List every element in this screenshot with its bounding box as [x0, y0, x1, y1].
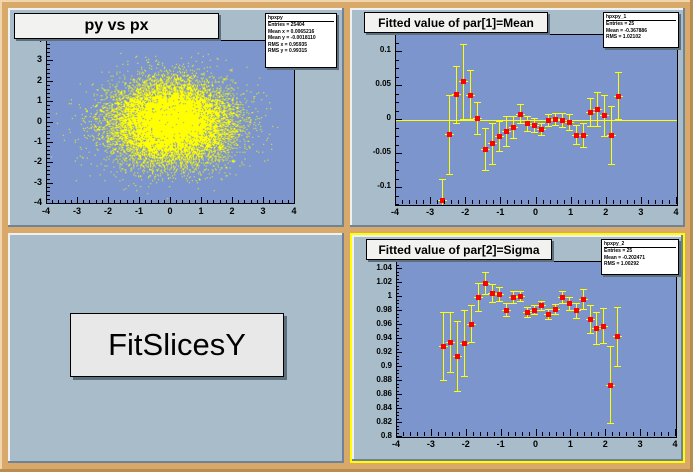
- axis-label: -1: [20, 136, 42, 146]
- error-bar-cap: [503, 303, 510, 304]
- error-bar-cap: [510, 291, 517, 292]
- axis-tick: [515, 432, 516, 436]
- axis-tick: [501, 432, 502, 436]
- error-bar-cap: [545, 114, 552, 115]
- error-bar-cap: [517, 104, 524, 105]
- axis-label: -1: [491, 207, 509, 217]
- axis-label: 4: [285, 206, 303, 216]
- axis-tick: [182, 200, 183, 204]
- pad-edge: [350, 8, 685, 10]
- error-bar-cap: [503, 146, 510, 147]
- axis-label: -4: [37, 206, 55, 216]
- axis-tick: [557, 200, 558, 204]
- axis-tick: [46, 77, 50, 78]
- pad-edge: [342, 233, 344, 463]
- axis-tick: [108, 200, 109, 204]
- pad-edge: [681, 235, 683, 461]
- data-point-marker: [454, 92, 459, 97]
- axis-tick: [396, 398, 399, 399]
- axis-tick: [668, 432, 669, 436]
- axis-label: 1: [366, 291, 392, 300]
- error-bar-cap: [587, 126, 594, 127]
- error-bar-cap: [531, 118, 538, 119]
- error-bar-cap: [453, 123, 460, 124]
- error-bar-cap: [468, 305, 475, 306]
- axis-label: 4: [666, 439, 684, 449]
- error-bar-cap: [439, 179, 446, 180]
- error-bar-cap: [517, 291, 524, 292]
- axis-label: 0.05: [363, 79, 391, 88]
- error-bar-cap: [559, 127, 566, 128]
- error-bar-cap: [460, 119, 467, 120]
- error-bar-cap: [447, 372, 454, 373]
- axis-tick: [46, 146, 50, 147]
- data-point-marker: [539, 127, 544, 132]
- axis-tick: [669, 200, 670, 204]
- data-point-marker: [588, 317, 593, 322]
- axis-tick: [396, 373, 399, 374]
- error-bar-cap: [524, 116, 531, 117]
- axis-tick: [151, 200, 152, 204]
- axis-tick: [46, 195, 50, 196]
- axis-tick: [536, 432, 537, 436]
- axis-tick: [528, 200, 529, 204]
- error-bar-cap: [524, 317, 531, 318]
- axis-tick: [396, 363, 399, 364]
- axis-tick: [396, 265, 399, 266]
- error-bar-cap: [593, 344, 600, 345]
- error-bar-cap: [614, 366, 621, 367]
- axis-tick: [282, 200, 283, 204]
- axis-tick: [395, 204, 399, 205]
- axis-tick: [395, 85, 399, 86]
- axis-tick: [396, 345, 399, 346]
- axis-tick: [641, 200, 642, 204]
- error-bar-cap: [566, 297, 573, 298]
- axis-tick: [675, 429, 676, 436]
- stats-line: hpxpy: [268, 15, 334, 22]
- axis-tick: [396, 377, 399, 378]
- error-bar-cap: [566, 114, 573, 115]
- error-bar-cap: [453, 66, 460, 67]
- error-bar-cap: [467, 70, 474, 71]
- pad-edge: [350, 8, 352, 227]
- error-bar-cap: [468, 342, 475, 343]
- error-bar-cap: [594, 92, 601, 93]
- error-bar-cap: [559, 113, 566, 114]
- axis-tick: [445, 432, 446, 436]
- axis-label: 2: [597, 207, 615, 217]
- stats-line: RMS = 1.02102: [606, 34, 676, 40]
- data-point-marker: [609, 133, 614, 138]
- axis-tick: [251, 200, 252, 204]
- axis-tick: [536, 200, 537, 204]
- axis-tick: [410, 432, 411, 436]
- axis-tick: [619, 432, 620, 436]
- axis-label: 2: [596, 439, 614, 449]
- error-bar-cap: [496, 151, 503, 152]
- axis-tick: [395, 179, 399, 180]
- axis-tick: [288, 200, 289, 204]
- axis-tick: [46, 199, 50, 200]
- data-point-marker: [601, 324, 606, 329]
- axis-tick: [521, 200, 522, 204]
- error-bar-cap: [460, 44, 467, 45]
- canvas-bevel-top: [0, 0, 693, 2]
- axis-label: -4: [386, 207, 404, 217]
- axis-tick: [96, 200, 97, 204]
- axis-tick: [396, 324, 399, 325]
- data-point-marker: [588, 110, 593, 115]
- axis-tick: [46, 56, 50, 57]
- axis-tick: [640, 432, 641, 436]
- axis-tick: [396, 314, 399, 315]
- stats-line: RMS y = 0.99315: [268, 48, 334, 54]
- axis-tick: [395, 60, 399, 61]
- axis-tick: [46, 40, 53, 41]
- axis-tick: [396, 307, 399, 308]
- axis-label: 0.86: [366, 389, 392, 398]
- axis-tick: [395, 136, 399, 137]
- error-bar-cap: [594, 126, 601, 127]
- axis-tick: [396, 422, 399, 423]
- error-bar-cap: [510, 138, 517, 139]
- axis-tick: [473, 432, 474, 436]
- axis-tick: [494, 432, 495, 436]
- axis-tick: [396, 282, 399, 283]
- error-bar-cap: [454, 321, 461, 322]
- error-bar-cap: [615, 119, 622, 120]
- axis-label: 1: [192, 206, 210, 216]
- pad-edge: [8, 8, 10, 227]
- data-point-marker: [497, 134, 502, 139]
- axis-tick: [213, 200, 214, 204]
- pad-label[interactable]: FitSlicesY: [8, 233, 344, 463]
- data-point-marker: [532, 123, 537, 128]
- error-bar-cap: [580, 123, 587, 124]
- data-point-marker: [461, 79, 466, 84]
- stats-line: RMS = 1.00292: [604, 261, 676, 267]
- error-bar-cap: [496, 287, 503, 288]
- axis-label: -3: [422, 439, 440, 449]
- axis-tick: [207, 200, 208, 204]
- axis-label: 0.88: [366, 375, 392, 384]
- axis-tick: [655, 200, 656, 204]
- axis-tick: [648, 200, 649, 204]
- axis-tick: [396, 401, 399, 402]
- axis-label: 2: [20, 75, 42, 85]
- stats-line: hpxpy_1: [606, 14, 676, 21]
- axis-label: 1: [20, 95, 42, 105]
- axis-tick: [46, 44, 50, 45]
- data-point-marker: [616, 94, 621, 99]
- error-bar-cap: [552, 304, 559, 305]
- axis-tick: [626, 432, 627, 436]
- error-bar-cap: [593, 312, 600, 313]
- error-bar-cap: [545, 319, 552, 320]
- axis-tick: [46, 93, 50, 94]
- error-bar-cap: [474, 134, 481, 135]
- axis-tick: [396, 303, 399, 304]
- axis-tick: [395, 51, 399, 52]
- axis-label: 3: [20, 54, 42, 64]
- axis-tick: [585, 200, 586, 204]
- data-point-marker: [615, 334, 620, 339]
- axis-tick: [424, 432, 425, 436]
- axis-tick: [417, 432, 418, 436]
- data-point-marker: [539, 303, 544, 308]
- axis-tick: [396, 272, 399, 273]
- error-bar-cap: [580, 309, 587, 310]
- axis-tick: [102, 200, 103, 204]
- error-bar-cap: [608, 164, 615, 165]
- error-bar-cap: [614, 307, 621, 308]
- pad-edge: [350, 225, 685, 227]
- error-bar-cap: [489, 284, 496, 285]
- error-bar-cap: [601, 95, 608, 96]
- axis-tick: [396, 275, 399, 276]
- axis-tick: [395, 111, 399, 112]
- fitslicesy-label-text: FitSlicesY: [108, 327, 246, 363]
- stats-box-mean[interactable]: hpxpy_1Entries = 25Mean = -0.367886RMS =…: [603, 12, 679, 48]
- axis-tick: [591, 432, 592, 436]
- axis-tick: [599, 200, 600, 204]
- plot-frame-scatter: [46, 40, 295, 204]
- axis-tick: [598, 432, 599, 436]
- error-bar-cap: [447, 312, 454, 313]
- axis-tick: [396, 408, 399, 409]
- axis-tick: [654, 432, 655, 436]
- axis-tick: [220, 200, 221, 204]
- data-point-marker: [553, 307, 558, 312]
- error-bar-cap: [552, 113, 559, 114]
- error-bar-cap: [517, 301, 524, 302]
- axis-tick: [269, 200, 270, 204]
- error-bar-cap: [524, 307, 531, 308]
- axis-tick: [395, 77, 399, 78]
- error-bar-cap: [600, 308, 607, 309]
- pad-edge: [8, 225, 344, 227]
- axis-tick: [396, 433, 399, 434]
- axis-label: 3: [631, 439, 649, 449]
- axis-tick: [164, 200, 165, 204]
- axis-tick: [395, 187, 399, 188]
- axis-tick: [46, 162, 50, 163]
- axis-tick: [479, 200, 480, 204]
- axis-label: -3: [68, 206, 86, 216]
- axis-tick: [46, 109, 50, 110]
- error-bar-cap: [461, 376, 468, 377]
- axis-tick: [662, 200, 663, 204]
- axis-tick: [500, 200, 501, 204]
- axis-tick: [46, 81, 50, 82]
- axis-tick: [395, 153, 399, 154]
- axis-tick: [395, 170, 399, 171]
- axis-tick: [275, 200, 276, 204]
- axis-tick: [564, 200, 565, 204]
- axis-label: 1: [561, 439, 579, 449]
- pad-edge: [8, 461, 344, 463]
- axis-label: 0: [527, 439, 545, 449]
- axis-tick: [46, 89, 50, 90]
- data-point-marker: [447, 132, 452, 137]
- axis-label: -2: [99, 206, 117, 216]
- axis-tick: [396, 419, 399, 420]
- pad-fitted-sigma[interactable]: -4-3-2-1012341.041.0210.980.960.940.920.…: [352, 235, 683, 461]
- axis-tick: [396, 300, 399, 301]
- axis-tick: [431, 432, 432, 436]
- axis-tick: [46, 183, 50, 184]
- axis-tick: [606, 200, 607, 204]
- axis-tick: [605, 432, 606, 436]
- axis-label: -4: [387, 439, 405, 449]
- axis-label: 0.82: [366, 417, 392, 426]
- axis-tick: [486, 200, 487, 204]
- error-bar-cap: [587, 333, 594, 334]
- axis-tick: [145, 200, 146, 204]
- axis-tick: [578, 200, 579, 204]
- axis-tick: [46, 126, 50, 127]
- axis-tick: [480, 432, 481, 436]
- axis-tick: [459, 432, 460, 436]
- pad-edge: [352, 459, 683, 461]
- error-bar-cap: [454, 391, 461, 392]
- axis-tick: [396, 335, 399, 336]
- axis-tick: [396, 436, 399, 437]
- axis-tick: [46, 52, 50, 53]
- error-bar-cap: [482, 128, 489, 129]
- error-bar-cap: [559, 291, 566, 292]
- data-point-marker: [546, 312, 551, 317]
- error-bar-cap: [580, 289, 587, 290]
- axis-tick: [570, 432, 571, 436]
- axis-tick: [46, 97, 50, 98]
- axis-tick: [46, 187, 50, 188]
- pad-edge: [352, 235, 683, 237]
- axis-tick: [577, 432, 578, 436]
- axis-tick: [395, 196, 399, 197]
- data-point-marker: [602, 113, 607, 118]
- data-point-marker: [560, 295, 565, 300]
- data-point-marker: [497, 292, 502, 297]
- axis-tick: [556, 432, 557, 436]
- axis-tick: [423, 200, 424, 204]
- axis-label: 0.92: [366, 347, 392, 356]
- axis-tick: [46, 166, 50, 167]
- error-bar-cap: [489, 302, 496, 303]
- error-bar-cap: [538, 301, 545, 302]
- error-bar-cap: [440, 312, 447, 313]
- axis-tick: [627, 200, 628, 204]
- error-bar-cap: [482, 272, 489, 273]
- axis-tick: [396, 405, 399, 406]
- axis-tick: [438, 432, 439, 436]
- error-bar-cap: [566, 130, 573, 131]
- pad-edge: [8, 233, 10, 463]
- axis-tick: [592, 200, 593, 204]
- axis-tick: [396, 310, 399, 311]
- axis-tick: [77, 200, 78, 204]
- error-bar-cap: [573, 318, 580, 319]
- error-bar-cap: [587, 98, 594, 99]
- axis-tick: [487, 432, 488, 436]
- axis-label: 0.94: [366, 333, 392, 342]
- axis-label: 3: [254, 206, 272, 216]
- error-bar-cap: [461, 310, 468, 311]
- axis-tick: [158, 200, 159, 204]
- error-bar-cap: [524, 131, 531, 132]
- error-bar-cap: [467, 119, 474, 120]
- axis-tick: [395, 102, 399, 103]
- error-bar-cap: [489, 123, 496, 124]
- data-point-marker: [504, 308, 509, 313]
- axis-label: 0: [20, 116, 42, 126]
- error-bar-cap: [573, 144, 580, 145]
- axis-tick: [396, 391, 399, 392]
- pad-scatter[interactable]: -4-3-2-101234-4-3-2-101234 py vs px hpxp…: [8, 8, 344, 227]
- data-point-marker: [468, 93, 473, 98]
- axis-tick: [46, 142, 50, 143]
- axis-label: -4: [20, 197, 42, 207]
- error-bar-cap: [573, 125, 580, 126]
- stats-box-scatter[interactable]: hpxpyEntries = 25404Mean x = 0.0065216Me…: [265, 13, 337, 68]
- axis-tick: [396, 349, 399, 350]
- axis-tick: [46, 179, 50, 180]
- axis-label: -0.1: [363, 181, 391, 190]
- axis-tick: [396, 426, 399, 427]
- error-bar-cap: [489, 164, 496, 165]
- axis-tick: [396, 429, 399, 430]
- error-bar-cap: [552, 125, 559, 126]
- axis-tick: [396, 366, 399, 367]
- axis-tick: [201, 200, 202, 204]
- axis-tick: [133, 200, 134, 204]
- axis-tick: [396, 342, 399, 343]
- axis-tick: [396, 321, 399, 322]
- stats-line: hpxpy_2: [604, 241, 676, 248]
- axis-tick: [396, 415, 399, 416]
- axis-label: 0.1: [363, 45, 391, 54]
- axis-tick: [58, 200, 59, 204]
- axis-tick: [395, 68, 399, 69]
- axis-tick: [396, 286, 399, 287]
- axis-tick: [633, 432, 634, 436]
- scatter-points: [47, 41, 294, 203]
- error-bar-cap: [538, 123, 545, 124]
- error-bar-cap: [510, 116, 517, 117]
- pad-fitted-mean[interactable]: -4-3-2-1012340.10.050-0.05-0.1 Fitted va…: [350, 8, 685, 227]
- axis-tick: [676, 197, 677, 204]
- axis-tick: [395, 128, 399, 129]
- axis-tick: [46, 60, 50, 61]
- fitslicesy-label-box: FitSlicesY: [70, 313, 284, 377]
- axis-tick: [396, 331, 399, 332]
- data-point-marker: [567, 120, 572, 125]
- pad-edge: [8, 233, 344, 235]
- axis-tick: [257, 200, 258, 204]
- axis-tick: [395, 94, 399, 95]
- axis-label: 4: [667, 207, 685, 217]
- axis-label: -1: [130, 206, 148, 216]
- axis-tick: [396, 384, 399, 385]
- axis-tick: [232, 200, 233, 204]
- axis-tick: [83, 200, 84, 204]
- error-bar-cap: [474, 102, 481, 103]
- axis-label: 1: [562, 207, 580, 217]
- axis-tick: [46, 134, 50, 135]
- stats-box-sigma[interactable]: hpxpy_2Entries = 25Mean = -0.202471RMS =…: [601, 239, 679, 275]
- axis-tick: [396, 352, 399, 353]
